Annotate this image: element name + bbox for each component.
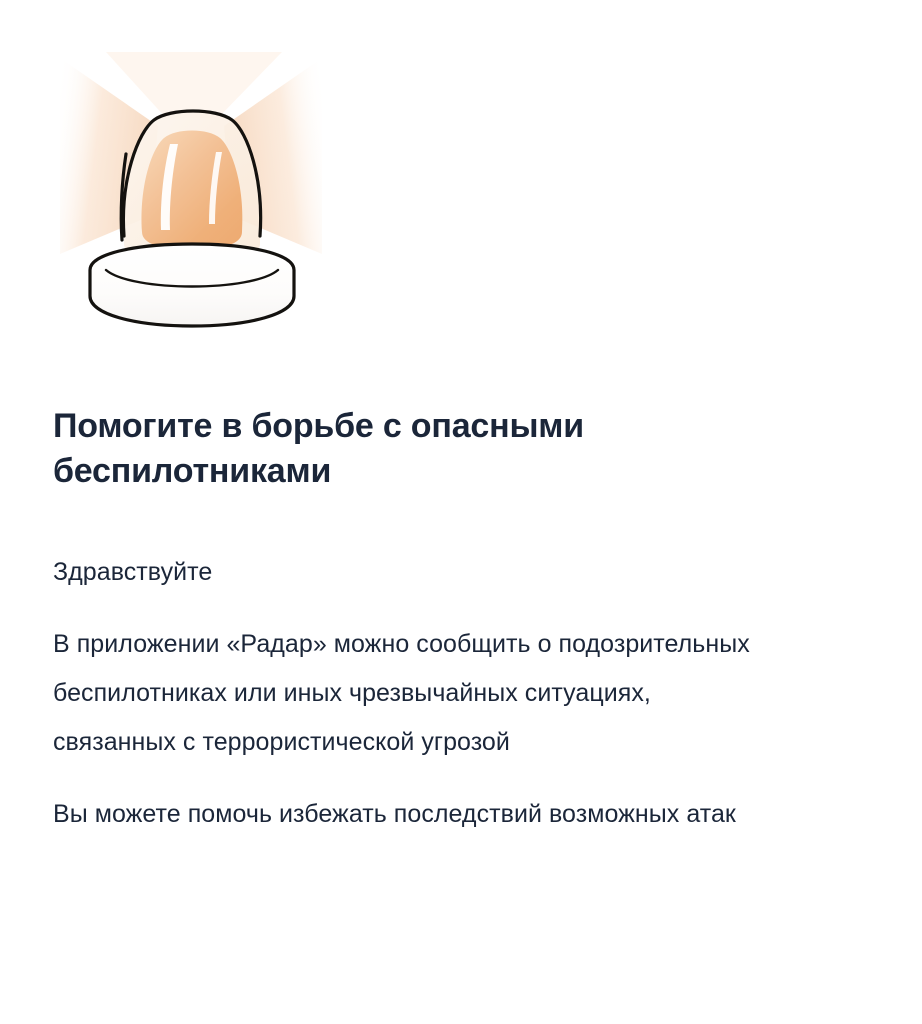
beacon-base-icon — [90, 244, 294, 326]
notice-paragraph-1: В приложении «Радар» можно сообщить о по… — [53, 620, 753, 767]
notice-body: Здравствуйте В приложении «Радар» можно … — [53, 548, 883, 839]
notice-paragraph-2: Вы можете помочь избежать последствий во… — [53, 790, 873, 839]
beacon-lamp-glow-icon — [142, 131, 243, 251]
page-title: Помогите в борьбе с опасными беспилотник… — [53, 404, 693, 494]
greeting-text: Здравствуйте — [53, 548, 883, 597]
emergency-beacon-illustration — [46, 48, 336, 338]
notice-screen: Помогите в борьбе с опасными беспилотник… — [0, 0, 922, 1024]
notice-content: Помогите в борьбе с опасными беспилотник… — [53, 404, 883, 839]
